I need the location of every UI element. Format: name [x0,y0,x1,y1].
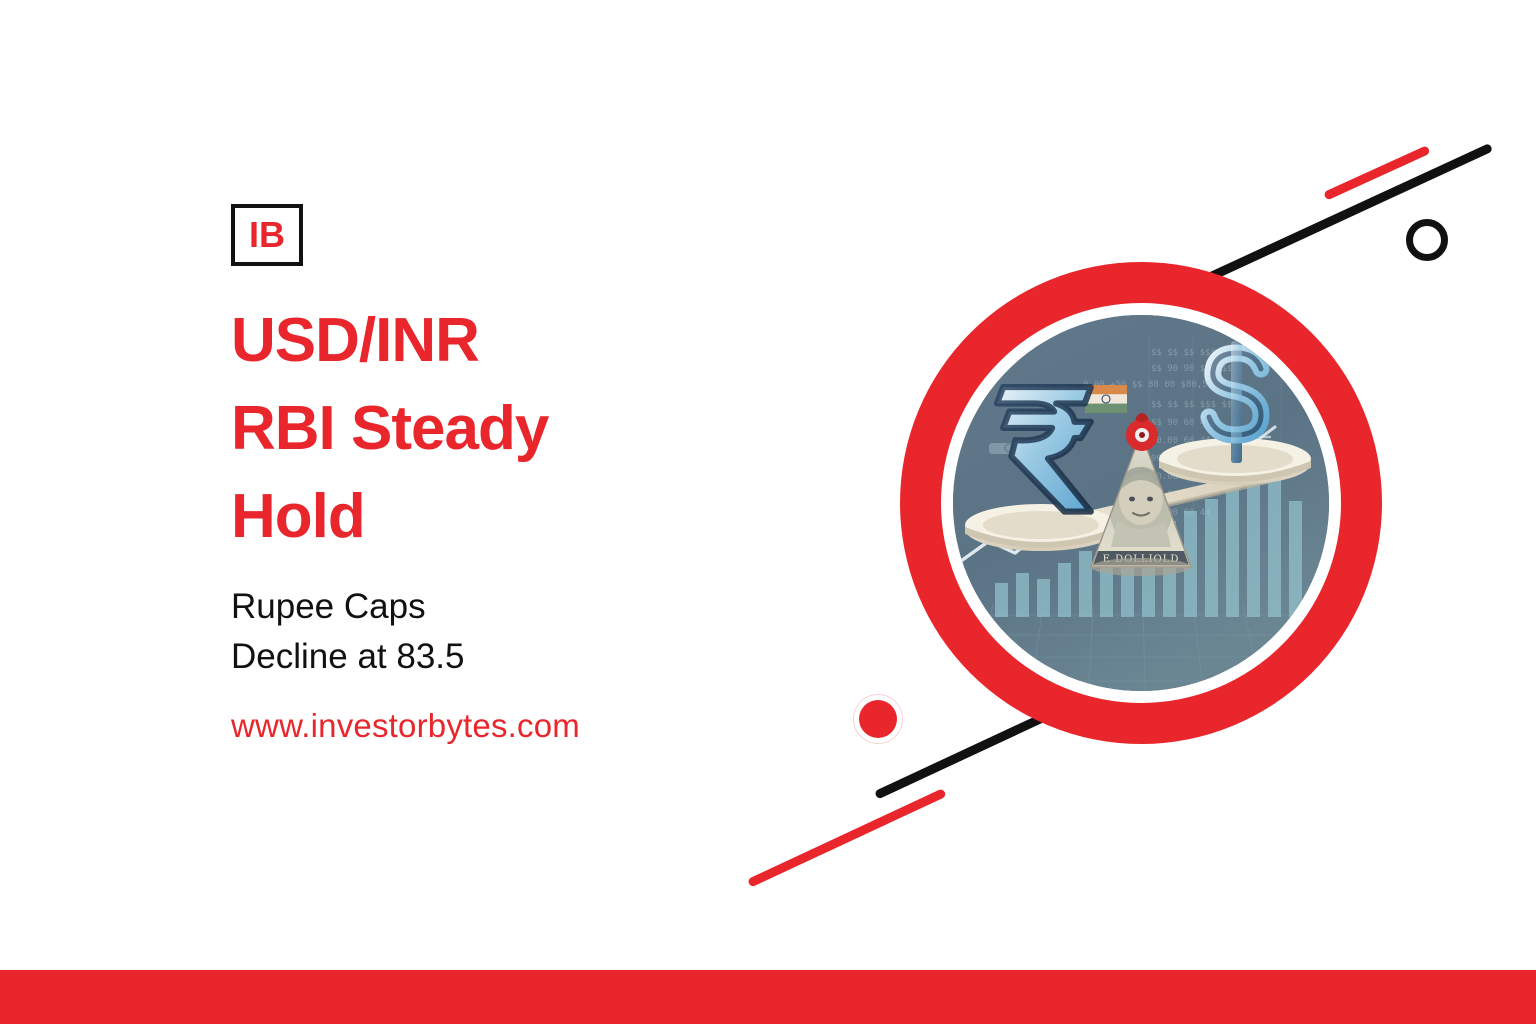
red-line-top-right-icon [1323,145,1430,200]
headline-line-2: RBI Steady [231,398,751,460]
hero-image-gap: $$ $$ $$ $$$ $$ $$ 90 90 $$$ $$ 0.00 +50… [941,303,1341,703]
brand-logo[interactable]: IB [231,204,303,266]
brand-logo-initials: IB [249,217,285,253]
subtitle-line-2: Decline at 83.5 [231,632,751,682]
poster-canvas: IB USD/INR RBI Steady Hold Rupee Caps De… [0,0,1536,1024]
content-column: IB USD/INR RBI Steady Hold Rupee Caps De… [231,204,751,745]
footer-accent-bar [0,970,1536,1024]
red-line-bottom-left-icon [747,788,947,887]
red-dot-bottom-left-icon [853,694,903,744]
black-ring-top-right-icon [1406,219,1448,261]
hero-image-ring: $$ $$ $$ $$$ $$ $$ 90 90 $$$ $$ 0.00 +50… [900,262,1382,744]
subtitle: Rupee Caps Decline at 83.5 [231,582,751,681]
headline-line-3: Hold [231,486,751,548]
page-title: USD/INR RBI Steady Hold [231,310,751,548]
headline-line-1: USD/INR [231,310,751,372]
subtitle-line-1: Rupee Caps [231,582,751,632]
hero-illustration: $$ $$ $$ $$$ $$ $$ 90 90 $$$ $$ 0.00 +50… [953,315,1329,691]
red-dot-core-icon [859,700,897,738]
black-line-top-right-icon [1196,143,1493,287]
svg-text:$$ $$ $$ $$$ $$: $$ $$ $$ $$$ $$ [1151,400,1232,410]
website-url[interactable]: www.investorbytes.com [231,707,751,745]
